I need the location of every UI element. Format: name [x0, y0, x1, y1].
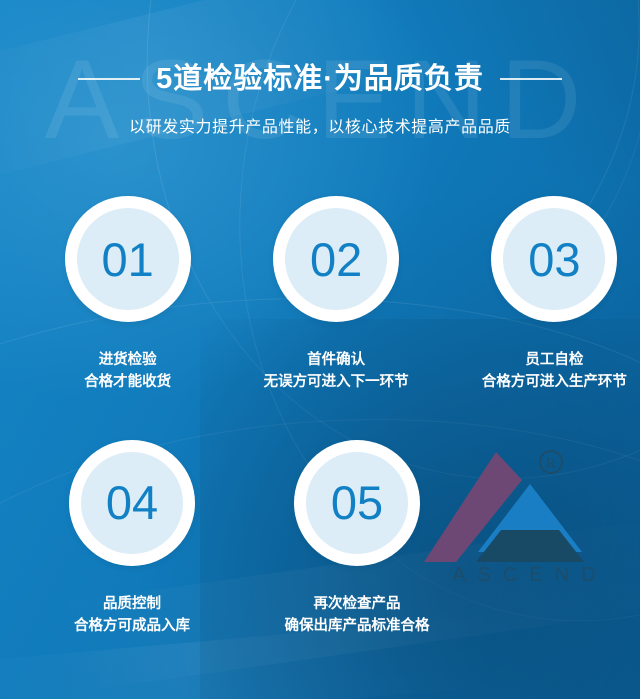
poster-header: 5道检验标准·为品质负责 以研发实力提升产品性能，以核心技术提高产品品质: [0, 62, 640, 137]
step-circle-inner: 04: [81, 452, 183, 554]
step-label-01: 进货检验 合格才能收货: [84, 349, 171, 394]
step-item-02: 02 首件确认 无误方可进入下一环节: [260, 196, 411, 394]
step-label-04: 品质控制 合格方可成品入库: [74, 593, 190, 638]
step-item-05: 05 再次检查产品 确保出库产品标准合格: [273, 440, 441, 638]
step-number: 01: [102, 236, 154, 283]
title-rule-left-icon: [78, 78, 140, 80]
quality-standards-poster: ASCEND 5道检验标准·为品质负责 以研发实力提升产品性能，以核心技术提高产…: [0, 0, 640, 699]
step-item-04: 04 品质控制 合格方可成品入库: [48, 440, 216, 638]
step-circle-03: 03: [491, 196, 617, 322]
step-label-line1: 品质控制: [74, 593, 190, 615]
step-label-02: 首件确认 无误方可进入下一环节: [264, 349, 409, 394]
step-number: 05: [331, 479, 383, 526]
step-circle-inner: 05: [306, 452, 408, 554]
step-label-line1: 进货检验: [84, 349, 171, 371]
ascend-logo: R ASCEND: [418, 440, 630, 600]
step-label-line1: 再次检查产品: [285, 593, 430, 615]
step-label-03: 员工自检 合格方可进入生产环节: [482, 349, 627, 394]
step-circle-01: 01: [65, 196, 191, 322]
step-circle-inner: 03: [503, 208, 605, 310]
step-item-01: 01 进货检验 合格才能收货: [52, 196, 203, 394]
page-subtitle: 以研发实力提升产品性能，以核心技术提高产品品质: [0, 113, 640, 137]
page-title: 5道检验标准·为品质负责: [156, 62, 484, 96]
title-rule-right-icon: [500, 78, 562, 80]
step-circle-05: 05: [294, 440, 420, 566]
step-item-03: 03 员工自检 合格方可进入生产环节: [469, 196, 640, 394]
step-circle-inner: 01: [77, 208, 179, 310]
logo-wordmark: ASCEND: [418, 565, 630, 585]
step-circle-02: 02: [273, 196, 399, 322]
step-label-line1: 员工自检: [482, 349, 627, 371]
step-label-line2: 无误方可进入下一环节: [264, 371, 409, 393]
step-label-line2: 合格方可进入生产环节: [482, 371, 627, 393]
step-number: 02: [310, 236, 362, 283]
registered-mark-letter: R: [546, 456, 556, 472]
step-number: 04: [106, 479, 158, 526]
step-circle-inner: 02: [285, 208, 387, 310]
step-number: 03: [528, 236, 580, 283]
step-label-line2: 合格方可成品入库: [74, 615, 190, 637]
step-label-line1: 首件确认: [264, 349, 409, 371]
ascend-logo-mark-icon: R: [418, 440, 630, 570]
steps-row-first: 01 进货检验 合格才能收货 02 首件确认 无误方可进入下一环节: [0, 196, 640, 394]
title-row: 5道检验标准·为品质负责: [0, 62, 640, 96]
step-label-line2: 合格才能收货: [84, 371, 171, 393]
step-label-05: 再次检查产品 确保出库产品标准合格: [285, 593, 430, 638]
step-label-line2: 确保出库产品标准合格: [285, 615, 430, 637]
step-circle-04: 04: [69, 440, 195, 566]
